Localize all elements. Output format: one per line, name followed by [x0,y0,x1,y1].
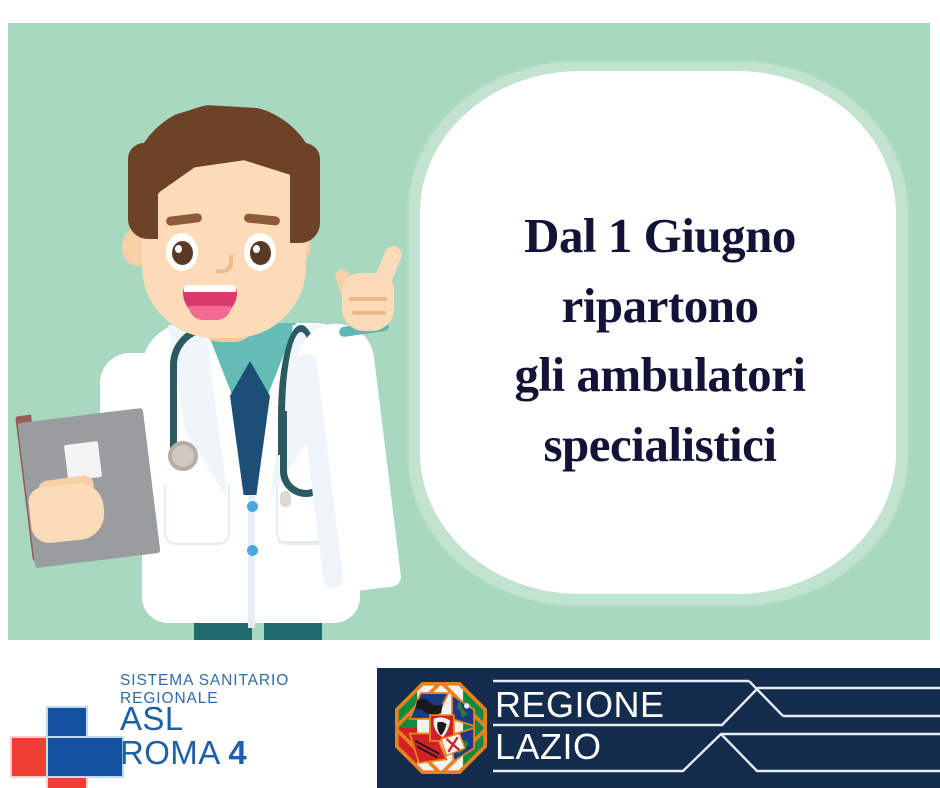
medical-cross-icon [12,708,122,788]
asl-name-block: ASL ROMA 4 [120,702,247,770]
doctor-eye-glint-left [175,245,182,253]
stethoscope-chestpiece [168,441,198,471]
footer-logo-band: SISTEMA SANITARIO REGIONALE ASL ROMA 4 [0,640,940,788]
stethoscope-tube-left [170,325,216,455]
coat-button-top [247,501,258,512]
doctor-illustration [8,23,448,640]
asl-name-line-1: ASL [120,702,247,736]
page-title: Dal 1 Giugno ripartono gli ambulatori sp… [460,201,860,479]
regione-lazio-logo-bar: REGIONE LAZIO [377,668,940,788]
headline-line-4: specialistici [460,410,860,480]
stethoscope-earpiece-left [280,491,291,507]
doctor-knuckle-line-upper [349,297,387,301]
coat-button-bottom [247,545,258,556]
cross-segment-blue-horizontal [48,738,122,776]
doctor-knuckle-line-lower [352,311,386,315]
cross-segment-red-left [12,738,50,776]
headline-line-1: Dal 1 Giugno [460,201,860,271]
asl-name-line-2: ROMA 4 [120,736,247,770]
asl-roma-4-logo: SISTEMA SANITARIO REGIONALE ASL ROMA 4 [12,668,368,780]
doctor-pupil-right [250,241,271,265]
cross-segment-red-bottom [48,774,86,788]
asl-roma-word: ROMA [120,734,228,771]
headline-line-3: gli ambulatori [460,340,860,410]
headline-line-2: ripartono [460,271,860,341]
coat-center-seam [248,493,255,628]
doctor-pupil-left [172,241,193,265]
asl-roma-number: 4 [228,734,247,771]
poster-root: Dal 1 Giugno ripartono gli ambulatori sp… [0,0,940,788]
artboard-green-background: Dal 1 Giugno ripartono gli ambulatori sp… [8,23,930,640]
chevron-line-graphic [377,668,940,788]
doctor-index-finger [369,244,404,299]
doctor-eye-glint-right [253,245,260,253]
doctor-teeth [184,285,236,292]
